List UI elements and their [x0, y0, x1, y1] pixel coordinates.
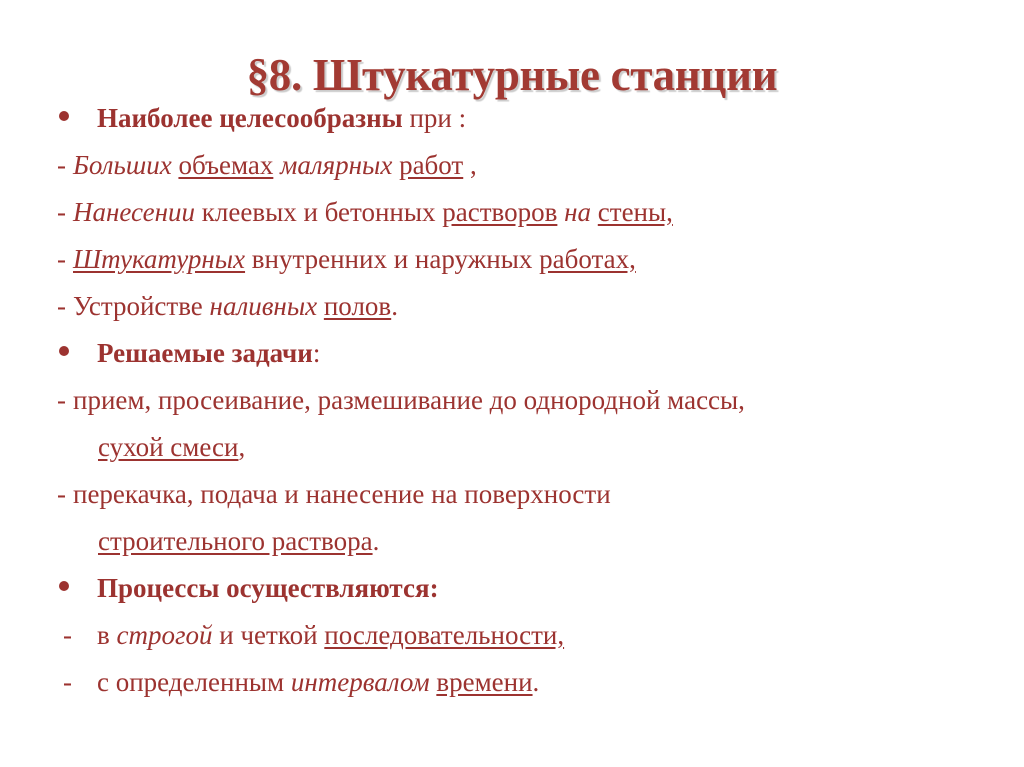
body-line: -Устройстве наливных полов.: [0, 286, 1024, 333]
text-run: [317, 291, 324, 321]
slide-body: Наиболее целесообразны при :-Больших объ…: [0, 98, 1024, 709]
text-run: Процессы осуществляются:: [97, 573, 439, 603]
line-text: Устройстве наливных полов.: [57, 291, 398, 321]
text-run: Наиболее целесообразны: [97, 103, 403, 133]
body-line: -в строгой и четкой последовательности,: [0, 615, 1024, 662]
body-line: -перекачка, подача и нанесение на поверх…: [0, 474, 1024, 521]
line-text: сухой смеси,: [98, 432, 245, 462]
dash-icon: -: [57, 380, 66, 421]
dash-icon: -: [57, 286, 66, 327]
text-run: на: [564, 197, 591, 227]
text-run: .: [391, 291, 398, 321]
line-text: Больших объемах малярных работ ,: [57, 150, 477, 180]
body-line: -прием, просеивание, размешивание до одн…: [0, 380, 1024, 427]
text-run: перекачка, подача и нанесение на поверхн…: [73, 479, 611, 509]
dash-icon: -: [57, 239, 66, 280]
dash-icon: -: [63, 662, 72, 703]
text-run: и четкой: [213, 620, 325, 650]
text-run: малярных: [280, 150, 392, 180]
bullet-icon: [59, 346, 69, 356]
line-text: Процессы осуществляются:: [97, 573, 439, 603]
text-run: Нанесении: [73, 197, 195, 227]
text-run: строительного раствора: [98, 526, 373, 556]
dash-icon: -: [57, 145, 66, 186]
text-run: строгой: [117, 620, 213, 650]
page-title: §8. Штукатурные станции: [0, 48, 1024, 102]
text-run: прием, просеивание, размешивание до одно…: [73, 385, 745, 415]
text-run: ,: [463, 150, 477, 180]
body-line: Решаемые задачи:: [0, 333, 1024, 380]
text-run: стены,: [598, 197, 673, 227]
text-run: ,: [238, 432, 245, 462]
text-run: :: [313, 338, 321, 368]
text-run: объемах: [178, 150, 273, 180]
text-run: Штукатурных: [73, 244, 245, 274]
line-text: Штукатурных внутренних и наружных работа…: [57, 244, 636, 274]
bullet-icon: [59, 111, 69, 121]
text-run: [591, 197, 598, 227]
body-line: Наиболее целесообразны при :: [0, 98, 1024, 145]
text-run: .: [533, 667, 540, 697]
body-line: -Нанесении клеевых и бетонных растворов …: [0, 192, 1024, 239]
body-line: строительного раствора.: [0, 521, 1024, 568]
text-run: полов: [324, 291, 391, 321]
text-run: Решаемые задачи: [97, 338, 313, 368]
text-run: .: [373, 526, 380, 556]
text-run: в: [97, 620, 117, 650]
line-text: прием, просеивание, размешивание до одно…: [57, 385, 745, 415]
text-run: наливных: [210, 291, 318, 321]
body-line: Процессы осуществляются:: [0, 568, 1024, 615]
body-line: -Штукатурных внутренних и наружных работ…: [0, 239, 1024, 286]
text-run: последовательности,: [324, 620, 564, 650]
text-run: работах,: [539, 244, 636, 274]
line-text: с определенным интервалом времени.: [63, 667, 539, 697]
bullet-icon: [59, 581, 69, 591]
text-run: внутренних и наружных: [245, 244, 539, 274]
text-run: с определенным: [97, 667, 291, 697]
line-text: строительного раствора.: [98, 526, 379, 556]
text-run: при :: [403, 103, 466, 133]
line-text: Решаемые задачи:: [97, 338, 320, 368]
text-run: Устройстве: [73, 291, 210, 321]
line-text: в строгой и четкой последовательности,: [63, 620, 564, 650]
text-run: интервалом: [291, 667, 430, 697]
slide-canvas: §8. Штукатурные станции Наиболее целесоо…: [0, 0, 1024, 767]
dash-icon: -: [57, 474, 66, 515]
line-text: Нанесении клеевых и бетонных растворов н…: [57, 197, 673, 227]
text-run: клеевых и бетонных: [195, 197, 442, 227]
line-text: Наиболее целесообразны при :: [97, 103, 466, 133]
text-run: растворов: [442, 197, 557, 227]
dash-icon: -: [57, 192, 66, 233]
body-line: сухой смеси,: [0, 427, 1024, 474]
text-run: Больших: [73, 150, 172, 180]
body-line: -с определенным интервалом времени.: [0, 662, 1024, 709]
body-line: -Больших объемах малярных работ ,: [0, 145, 1024, 192]
line-text: перекачка, подача и нанесение на поверхн…: [57, 479, 611, 509]
text-run: работ: [399, 150, 463, 180]
text-run: времени: [436, 667, 532, 697]
dash-icon: -: [63, 615, 72, 656]
text-run: сухой смеси: [98, 432, 238, 462]
